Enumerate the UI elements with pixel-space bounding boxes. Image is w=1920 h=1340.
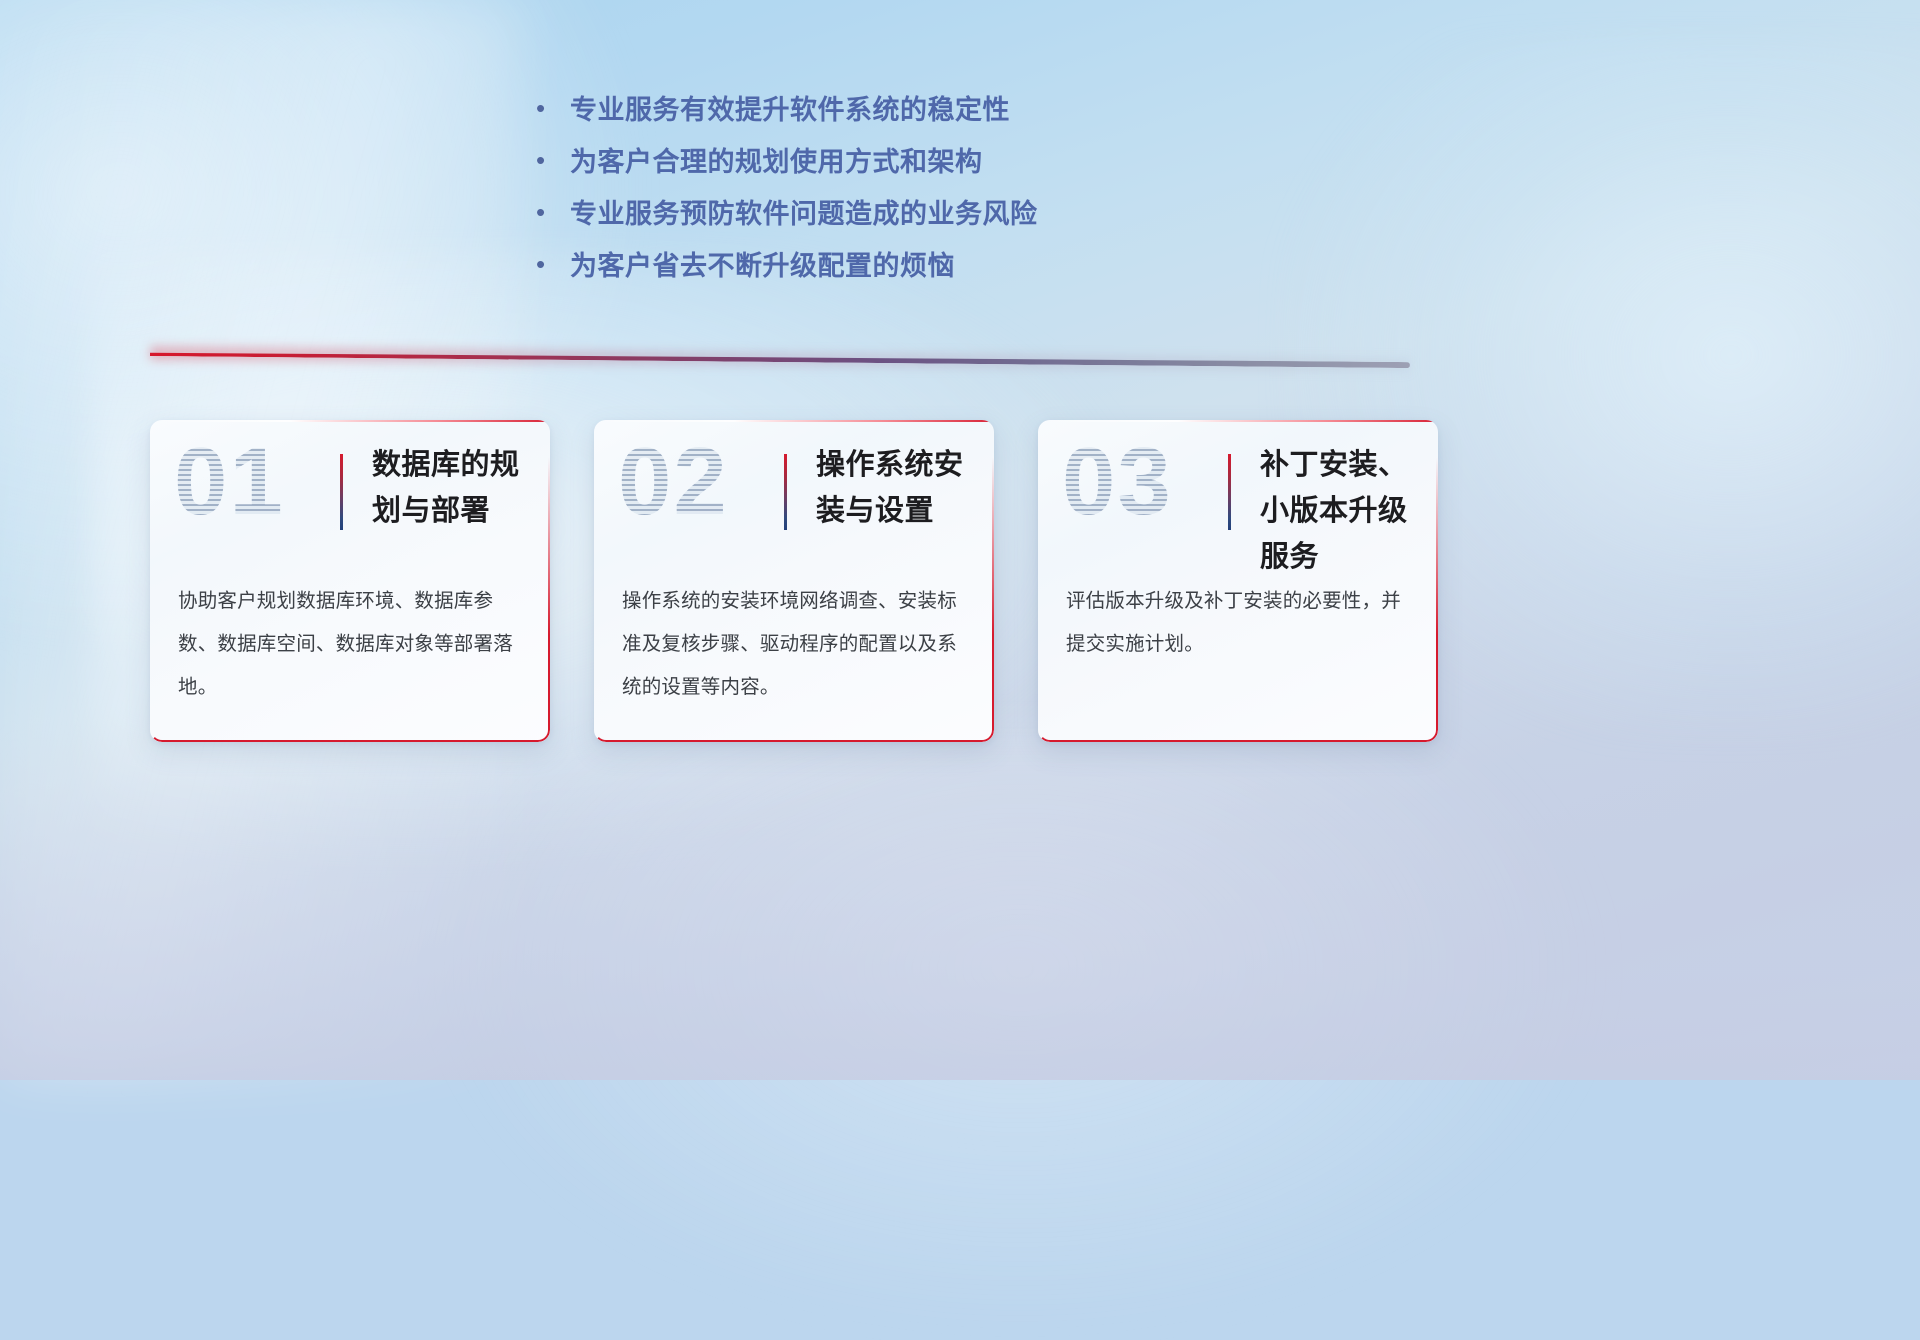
service-card[interactable]: 01 01 数据库的规划与部署 协助客户规划数据库环境、数据库参数、数据库空间、… bbox=[150, 420, 550, 742]
card-title: 数据库的规划与部署 bbox=[372, 442, 548, 534]
card-number-watermark: 02 bbox=[618, 434, 729, 530]
bullet-text: 为客户合理的规划使用方式和架构 bbox=[570, 136, 983, 188]
card-number-watermark: 03 bbox=[1062, 434, 1173, 530]
card-header: 01 01 数据库的规划与部署 bbox=[150, 420, 550, 562]
card-number-watermark: 01 bbox=[174, 434, 285, 530]
bullet-text: 专业服务有效提升软件系统的稳定性 bbox=[570, 84, 1010, 136]
card-divider-bar bbox=[784, 454, 787, 530]
list-item: • 专业服务有效提升软件系统的稳定性 bbox=[536, 84, 1296, 136]
bullet-dot-icon: • bbox=[536, 147, 570, 173]
bullet-text: 为客户省去不断升级配置的烦恼 bbox=[570, 240, 955, 292]
service-card[interactable]: 03 03 补丁安装、小版本升级服务 评估版本升级及补丁安装的必要性，并提交实施… bbox=[1038, 420, 1438, 742]
benefits-bullet-list: • 专业服务有效提升软件系统的稳定性 • 为客户合理的规划使用方式和架构 • 专… bbox=[536, 84, 1296, 292]
list-item: • 为客户省去不断升级配置的烦恼 bbox=[536, 240, 1296, 292]
card-divider-bar bbox=[1228, 454, 1231, 530]
card-description: 操作系统的安装环境网络调查、安装标准及复核步骤、驱动程序的配置以及系统的设置等内… bbox=[622, 580, 972, 709]
list-item: • 为客户合理的规划使用方式和架构 bbox=[536, 136, 1296, 188]
bullet-dot-icon: • bbox=[536, 251, 570, 277]
card-description: 协助客户规划数据库环境、数据库参数、数据库空间、数据库对象等部署落地。 bbox=[178, 580, 528, 709]
card-description: 评估版本升级及补丁安装的必要性，并提交实施计划。 bbox=[1066, 580, 1416, 666]
background-bottom-veil bbox=[0, 720, 1920, 1080]
bullet-dot-icon: • bbox=[536, 199, 570, 225]
service-card-group: 01 01 数据库的规划与部署 协助客户规划数据库环境、数据库参数、数据库空间、… bbox=[150, 420, 1438, 742]
card-divider-bar bbox=[340, 454, 343, 530]
card-header: 03 03 补丁安装、小版本升级服务 bbox=[1038, 420, 1438, 562]
card-header: 02 02 操作系统安装与设置 bbox=[594, 420, 994, 562]
bullet-text: 专业服务预防软件问题造成的业务风险 bbox=[570, 188, 1038, 240]
card-title: 操作系统安装与设置 bbox=[816, 442, 992, 534]
list-item: • 专业服务预防软件问题造成的业务风险 bbox=[536, 188, 1296, 240]
card-title: 补丁安装、小版本升级服务 bbox=[1260, 442, 1436, 580]
bullet-dot-icon: • bbox=[536, 95, 570, 121]
service-card[interactable]: 02 02 操作系统安装与设置 操作系统的安装环境网络调查、安装标准及复核步骤、… bbox=[594, 420, 994, 742]
